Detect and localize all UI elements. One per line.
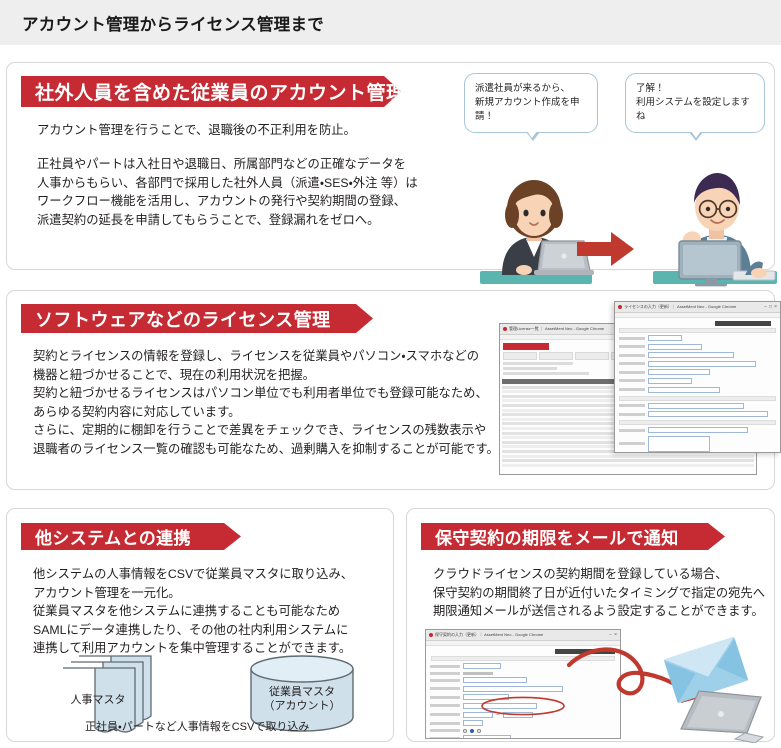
field-label — [430, 704, 460, 707]
form-field-row — [619, 411, 776, 417]
field-textarea[interactable] — [648, 436, 710, 452]
field-input[interactable] — [463, 735, 511, 739]
form-group-header — [619, 328, 776, 333]
label-hr-master: 人事マスタ — [59, 693, 137, 707]
form-field-row — [619, 335, 776, 341]
system-linkage-paragraph: 他システムの人事情報をCSVで従業員マスタに取り込み、 アカウント管理を一元化。… — [33, 565, 353, 658]
field-label — [430, 737, 460, 739]
field-input[interactable] — [463, 694, 509, 700]
field-label — [619, 379, 645, 382]
caption-csv-import: 正社員・パートなど人事情報をCSVで取り込み — [85, 718, 309, 734]
field-input[interactable] — [463, 703, 537, 709]
favicon-icon — [618, 305, 622, 309]
field-label — [619, 442, 645, 445]
field-label — [430, 665, 460, 668]
form-group-header — [619, 420, 776, 425]
screenshot-license-detail-window: ライセンスの入力（更新）｜ AssetMent Neo - Google Chr… — [614, 301, 781, 453]
field-input[interactable] — [648, 344, 702, 350]
field-label — [619, 388, 645, 391]
window-close-button[interactable]: × — [774, 304, 777, 310]
field-input[interactable] — [463, 686, 563, 692]
field-value — [463, 672, 493, 675]
expiry-notification-paragraph: クラウドライセンスの契約期間を登録している場合、 保守契約の期間終了日が近付いた… — [433, 565, 765, 621]
radio-option-other[interactable] — [477, 729, 481, 733]
app-logo-icon — [503, 343, 549, 350]
field-label — [619, 404, 645, 407]
field-label — [619, 413, 645, 416]
field-input[interactable] — [648, 352, 734, 358]
field-label — [430, 729, 460, 732]
radio-option-off[interactable] — [463, 729, 467, 733]
form-field-row — [619, 436, 776, 452]
table-row — [502, 464, 754, 467]
form-field-row — [619, 403, 776, 409]
field-label — [430, 713, 460, 716]
field-input[interactable] — [648, 411, 768, 417]
field-label — [619, 429, 645, 432]
contract-start-date-input[interactable] — [463, 712, 493, 718]
field-input[interactable] — [463, 720, 483, 726]
form-field-row — [619, 361, 776, 367]
field-input[interactable] — [648, 427, 748, 433]
field-input[interactable] — [463, 677, 527, 683]
illustration-it-staff-person — [647, 167, 781, 297]
field-input[interactable] — [648, 361, 756, 367]
card-license-management: ソフトウェアなどのライセンス管理 契約とライセンスの情報を登録し、ライセンスを従… — [6, 290, 775, 490]
license-management-paragraph-1: 契約とライセンスの情報を登録し、ライセンスを従業員やパソコン・スマホなどの 機器… — [33, 347, 488, 421]
speech-bubble-it-staff: 了解！ 利用システムを設定しますね — [625, 73, 765, 133]
flow-arrow-icon — [577, 231, 635, 267]
page-title: アカウント管理からライセンス管理まで — [22, 11, 324, 35]
page-header-bar: アカウント管理からライセンス管理まで — [0, 0, 781, 45]
account-management-paragraph-2: 正社員やパートは入社日や退職日、所属部門などの正確なデータを 人事からもらい、各… — [37, 155, 418, 229]
field-input[interactable] — [648, 387, 720, 393]
field-label — [430, 722, 460, 725]
notification-radio-row — [430, 729, 616, 733]
section-banner-expiry-notification: 保守契約の期限をメールで通知 — [421, 523, 725, 550]
favicon-icon — [503, 327, 507, 331]
contract-end-date-input[interactable] — [503, 712, 533, 718]
field-label — [430, 672, 460, 675]
field-label — [619, 337, 645, 340]
card-maintenance-expiry-notification: 保守契約の期限をメールで通知 クラウドライセンスの契約期間を登録している場合、 … — [406, 508, 775, 742]
form-field-row — [430, 735, 616, 739]
form-field-row — [619, 378, 776, 384]
field-label — [430, 679, 460, 682]
section-banner-system-linkage: 他システムとの連携 — [21, 523, 241, 550]
form-group-header — [619, 396, 776, 401]
field-label — [619, 345, 645, 348]
form-field-row — [619, 369, 776, 375]
radio-option-on[interactable] — [470, 729, 474, 733]
label-employee-master: 従業員マスタ （アカウント） — [247, 685, 357, 713]
field-label — [619, 371, 645, 374]
account-management-paragraph-1: アカウント管理を行うことで、退職後の不正利用を防止。 — [37, 121, 356, 140]
window-title-text: 管理License一覧 ｜ AssetMent Neo - Google Chr… — [509, 326, 604, 332]
field-input[interactable] — [648, 403, 744, 409]
form-field-row — [619, 427, 776, 433]
card-account-management: 社外人員を含めた従業員のアカウント管理 アカウント管理を行うことで、退職後の不正… — [6, 62, 775, 270]
page-root: アカウント管理からライセンス管理まで 社外人員を含めた従業員のアカウント管理 ア… — [0, 0, 781, 748]
field-input[interactable] — [648, 378, 692, 384]
field-label — [619, 362, 645, 365]
field-select[interactable] — [463, 663, 501, 669]
browser-toolbar — [615, 313, 780, 318]
section-banner-license-management: ソフトウェアなどのライセンス管理 — [21, 304, 373, 333]
speech-bubble-field-department: 派遣社員が来るから、 新規アカウント作成を申請！ — [464, 73, 598, 133]
field-label — [430, 687, 460, 690]
table-row — [502, 459, 754, 462]
laptop-device-icon — [669, 687, 773, 743]
field-input[interactable] — [648, 369, 710, 375]
card-system-linkage: 他システムとの連携 他システムの人事情報をCSVで従業員マスタに取り込み、 アカ… — [6, 508, 394, 742]
form-field-row — [619, 387, 776, 393]
window-maximize-button[interactable]: □ — [769, 304, 772, 310]
form-field-row — [619, 352, 776, 358]
field-label — [430, 696, 460, 699]
date-range-separator: 〜 — [496, 712, 500, 718]
field-input[interactable] — [648, 335, 682, 341]
window-minimize-button[interactable]: − — [764, 304, 767, 310]
field-label — [619, 354, 645, 357]
table-row — [502, 455, 754, 458]
license-detail-form — [615, 335, 780, 393]
form-field-row — [619, 344, 776, 350]
form-field-row — [430, 720, 616, 726]
window-title-text: ライセンスの入力（更新）｜ AssetMent Neo - Google Chr… — [624, 304, 762, 310]
section-banner-account-management: 社外人員を含めた従業員のアカウント管理 — [21, 76, 401, 107]
favicon-icon — [429, 633, 433, 637]
license-management-paragraph-2: さらに、定期的に棚卸を行うことで差異をチェックでき、ライセンスの残数表示や 退職… — [33, 421, 499, 458]
window-titlebar: ライセンスの入力（更新）｜ AssetMent Neo - Google Chr… — [615, 302, 780, 313]
section-header-bar — [715, 321, 771, 326]
